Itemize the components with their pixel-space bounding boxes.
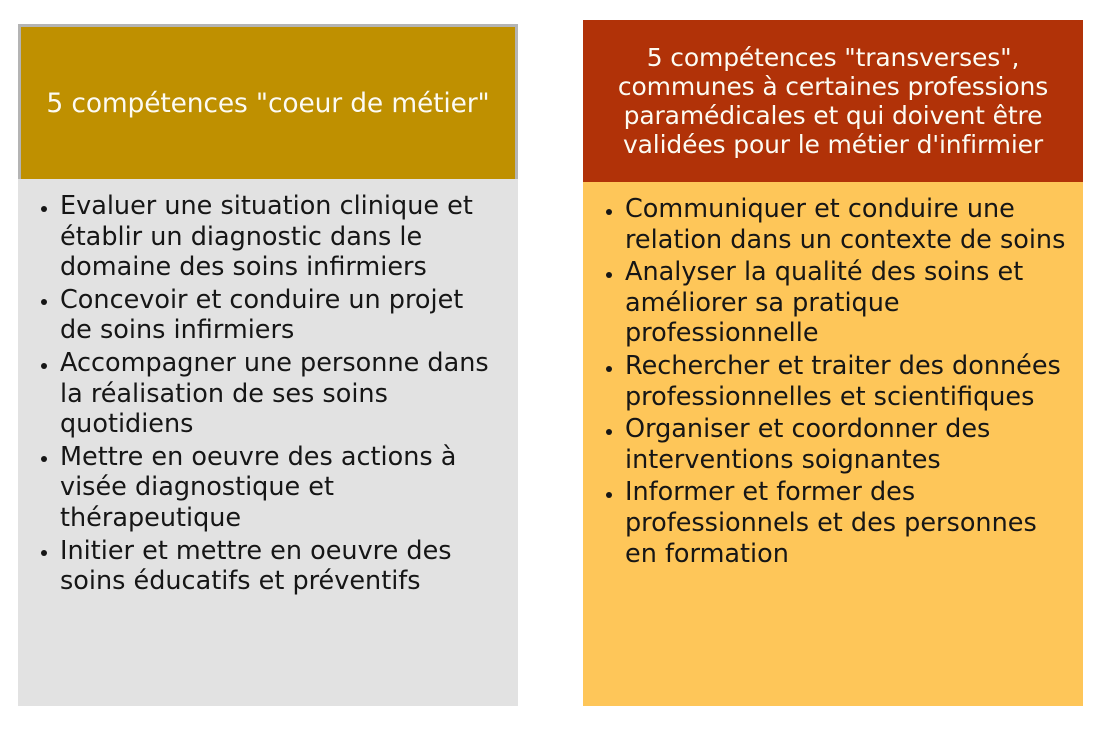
bullet-dot-icon [606, 272, 612, 278]
list-item-text: Initier et mettre en oeuvre des soins éd… [60, 536, 452, 597]
bullet-dot-icon [41, 206, 47, 212]
bullet-dot-icon [606, 209, 612, 215]
list-item-text: Communiquer et conduire une relation dan… [625, 194, 1065, 255]
list-item-text: Organiser et coordonner des intervention… [625, 414, 990, 475]
list-item-text: Accompagner une personne dans la réalisa… [60, 348, 489, 439]
panel-transverses-title-line-1: 5 compétences "transverses", [618, 43, 1048, 72]
list-item: Analyser la qualité des soins et amélior… [603, 257, 1073, 349]
list-item: Mettre en oeuvre des actions à visée dia… [38, 442, 502, 534]
bullet-dot-icon [41, 550, 47, 556]
bullet-dot-icon [41, 456, 47, 462]
panel-transverses-title-line-3: paramédicales et qui doivent être [618, 101, 1048, 130]
bullet-dot-icon [606, 492, 612, 498]
bullet-dot-icon [41, 299, 47, 305]
list-item-text: Concevoir et conduire un projet de soins… [60, 285, 463, 346]
list-item: Organiser et coordonner des intervention… [603, 414, 1073, 475]
competences-coeur-list: Evaluer une situation clinique et établi… [38, 191, 502, 597]
panel-transverses-body: Communiquer et conduire une relation dan… [583, 182, 1083, 706]
panel-transverses-title: 5 compétences "transverses", communes à … [618, 43, 1048, 160]
list-item: Accompagner une personne dans la réalisa… [38, 348, 502, 440]
list-item-text: Informer et former des professionnels et… [625, 477, 1037, 568]
panel-transverses-title-line-4: validées pour le métier d'infirmier [618, 130, 1048, 159]
bullet-dot-icon [606, 366, 612, 372]
list-item: Evaluer une situation clinique et établi… [38, 191, 502, 283]
list-item-text: Evaluer une situation clinique et établi… [60, 191, 473, 282]
list-item-text: Rechercher et traiter des données profes… [625, 351, 1061, 412]
panel-coeur-de-metier-title: 5 compétences "coeur de métier" [46, 88, 489, 119]
panel-coeur-de-metier-body: Evaluer une situation clinique et établi… [18, 179, 518, 706]
panel-transverses-title-line-2: communes à certaines professions [618, 72, 1048, 101]
panel-coeur-de-metier: 5 compétences "coeur de métier" Evaluer … [18, 24, 518, 706]
list-item-text: Mettre en oeuvre des actions à visée dia… [60, 442, 456, 533]
panel-transverses: 5 compétences "transverses", communes à … [583, 20, 1083, 706]
list-item: Communiquer et conduire une relation dan… [603, 194, 1073, 255]
list-item-text: Analyser la qualité des soins et amélior… [625, 257, 1023, 348]
bullet-dot-icon [41, 363, 47, 369]
list-item: Rechercher et traiter des données profes… [603, 351, 1073, 412]
panel-coeur-de-metier-header: 5 compétences "coeur de métier" [18, 24, 518, 179]
panel-transverses-header: 5 compétences "transverses", communes à … [583, 20, 1083, 182]
list-item: Concevoir et conduire un projet de soins… [38, 285, 502, 346]
bullet-dot-icon [606, 429, 612, 435]
list-item: Initier et mettre en oeuvre des soins éd… [38, 536, 502, 597]
list-item: Informer et former des professionnels et… [603, 477, 1073, 569]
slide-canvas: 5 compétences "coeur de métier" Evaluer … [0, 0, 1100, 730]
competences-transverses-list: Communiquer et conduire une relation dan… [603, 194, 1073, 569]
